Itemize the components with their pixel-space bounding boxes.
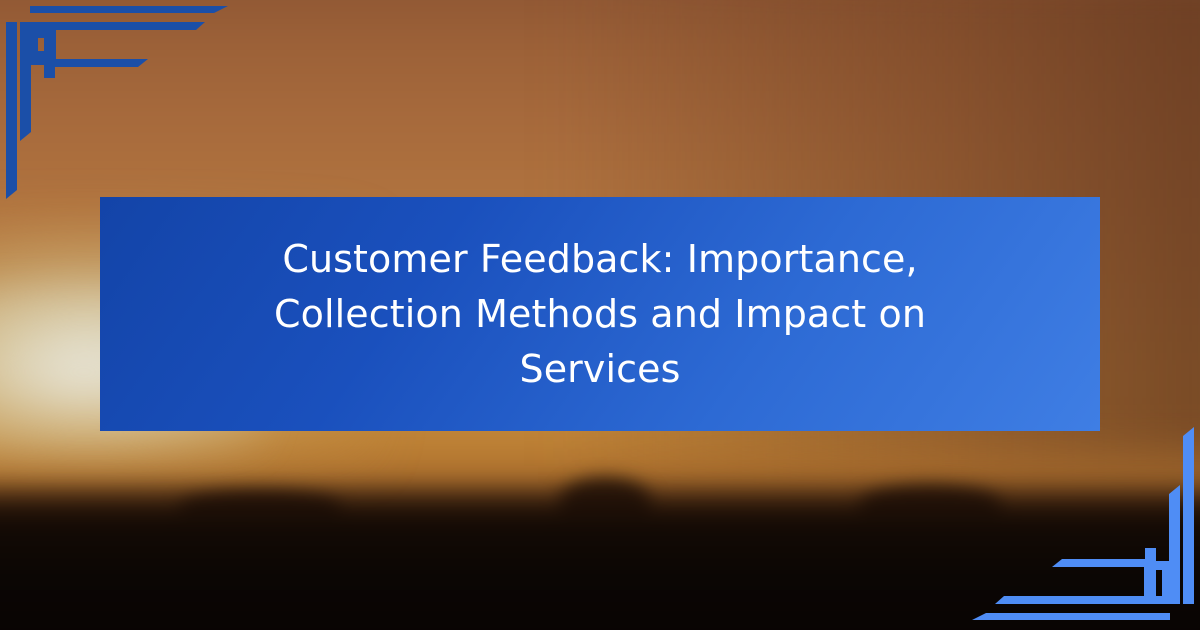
page-title: Customer Feedback: Importance, Collectio… (174, 232, 1026, 397)
share-card-canvas: Customer Feedback: Importance, Collectio… (0, 0, 1200, 630)
title-banner: Customer Feedback: Importance, Collectio… (100, 197, 1100, 431)
land-silhouette-layer (0, 479, 1200, 630)
